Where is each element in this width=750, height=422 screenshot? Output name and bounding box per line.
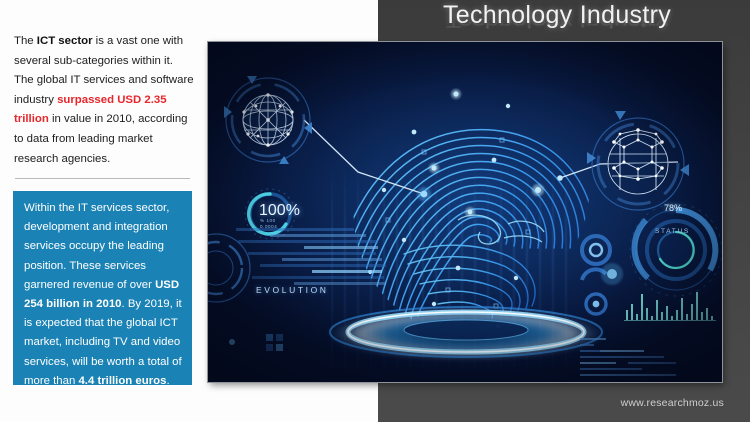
callout-box-it-services: Within the IT services sector, developme… [13,191,192,385]
text-segment-0: Within the IT services sector, developme… [24,202,169,291]
section-divider [15,178,190,179]
text-segment-4: . [166,375,169,387]
gauge-left-subtext: % 100 0.0004 [260,218,277,229]
page-title-reflection: Technology Industry [378,14,736,31]
slide-canvas: The ICT sector is a vast one with severa… [0,0,750,422]
hero-image: 100% % 100 0.0004 EVOLUTION 78% STATUS [208,42,722,382]
text-segment-2: . By 2019, it is expected that the globa… [24,298,182,387]
paragraph-it-services: Within the IT services sector, developme… [24,199,183,391]
paragraph-ict-sector: The ICT sector is a vast one with severa… [14,32,194,169]
text-segment-1: ICT sector [37,35,93,47]
title-area: Technology Industry Technology Industry [378,0,750,44]
gauge-right-label: STATUS [655,228,690,235]
hero-image-scene: 100% % 100 0.0004 EVOLUTION 78% STATUS [208,42,722,382]
footer-website-url[interactable]: www.researchmoz.us [621,397,724,409]
text-segment-0: The [14,35,37,47]
text-segment-3: 4.4 trillion euros [78,375,166,387]
gauge-right-value: 78% [664,203,682,213]
label-evolution: EVOLUTION [256,285,329,295]
